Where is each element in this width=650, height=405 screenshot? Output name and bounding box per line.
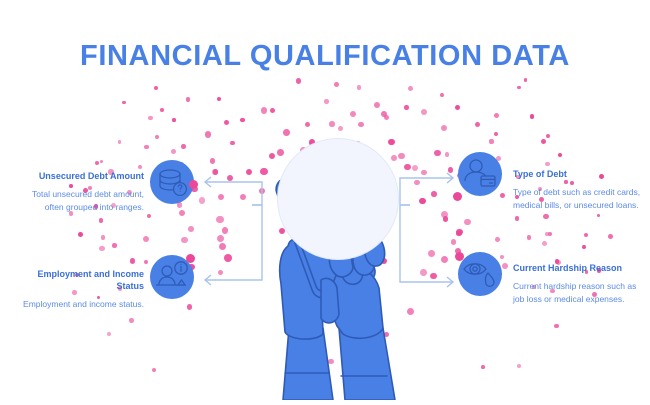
hands-phone-illustration [255,128,405,400]
accent-dot [152,368,156,372]
item-description: Type of debt such as credit cards, medic… [513,186,641,212]
accent-dot [358,122,363,127]
accent-dot [412,165,418,171]
accent-dot [441,125,447,131]
accent-dot [404,105,408,109]
accent-dot [350,111,356,117]
accent-dot [431,191,437,197]
accent-dot [384,115,389,120]
accent-dot [171,149,176,154]
accent-dot [122,101,126,105]
accent-dot [527,235,532,240]
accent-dot [455,252,464,261]
accent-dot [296,78,301,83]
accent-dot [101,235,105,239]
accent-dot [144,145,148,149]
accent-dot [144,260,149,265]
database-question-icon[interactable] [150,160,194,204]
accent-dot [186,254,195,263]
item-unsecured-debt-amount[interactable]: Unsecured Debt Amount Total unsecured de… [14,170,144,214]
accent-dot [224,254,232,262]
item-description: Total unsecured debt amount, often group… [14,188,144,214]
accent-dot [597,214,600,217]
accent-dot [548,232,553,237]
accent-dot [129,318,133,322]
accent-dot [524,78,528,82]
accent-dot [543,214,548,219]
accent-dot [227,175,233,181]
accent-dot [160,108,164,112]
accent-dot [481,365,485,369]
item-heading: Current Hardship Reason [513,262,641,274]
accent-dot [189,180,198,189]
accent-dot [118,140,122,144]
accent-dot [186,97,190,101]
accent-dot [218,270,223,275]
accent-dot [100,160,103,163]
accent-dot [441,211,448,218]
accent-dot [453,192,462,201]
accent-dot [515,216,519,220]
accent-dot [419,198,426,205]
infographic-canvas: FINANCIAL QUALIFICATION DATA [0,0,650,400]
accent-dot [404,164,411,171]
accent-dot [582,245,586,249]
accent-dot [541,139,546,144]
accent-dot [216,216,223,223]
accent-dot [456,231,461,236]
accent-dot [219,243,226,250]
accent-dot [329,121,334,126]
accent-dot [179,210,185,216]
accent-dot [107,332,111,336]
accent-dot [530,114,534,118]
accent-dot [445,152,450,157]
item-type-of-debt[interactable]: Type of Debt Type of debt such as credit… [513,168,641,212]
accent-dot [489,139,493,143]
accent-dot [224,120,229,125]
accent-dot [357,85,362,90]
accent-dot [188,226,194,232]
item-employment-income-status[interactable]: Employment and Income Status Employment … [14,268,144,311]
item-heading: Unsecured Debt Amount [14,170,144,182]
accent-dot [608,234,613,239]
accent-dot [218,194,224,200]
accent-dot [441,256,448,263]
accent-dot [334,82,339,87]
person-credit-card-icon[interactable] [458,152,502,196]
accent-dot [455,105,460,110]
accent-dot [443,216,448,221]
accent-dot [181,144,185,148]
accent-dot [408,86,413,91]
accent-dot [495,237,500,242]
accent-dot [143,236,149,242]
accent-dot [217,235,224,242]
accent-dot [230,141,235,146]
item-description: Current hardship reason such as job loss… [513,280,641,306]
accent-dot [517,86,521,90]
accent-dot [542,241,547,246]
accent-dot [95,161,99,165]
accent-dot [305,122,310,127]
accent-dot [517,364,521,368]
accent-dot [554,324,559,329]
accent-dot [155,135,160,140]
accent-dot [420,269,427,276]
halo-circle [277,138,399,260]
accent-dot [421,170,426,175]
accent-dot [545,232,549,236]
accent-dot [187,304,192,309]
accent-dot [212,169,217,174]
accent-dot [246,169,252,175]
accent-dot [456,229,463,236]
accent-dot [217,97,221,101]
accent-dot [428,250,435,257]
accent-dot [147,214,151,218]
accent-dot [421,109,427,115]
item-heading: Employment and Income Status [14,268,144,292]
accent-dot [475,122,480,127]
item-current-hardship-reason[interactable]: Current Hardship Reason Current hardship… [513,262,641,306]
accent-dot [205,131,212,138]
item-heading: Type of Debt [513,168,641,180]
accent-dot [172,118,175,121]
accent-dot [430,273,437,280]
accent-dot [494,132,498,136]
item-description: Employment and income status. [14,298,144,311]
accent-dot [148,116,153,121]
accent-dot [494,113,499,118]
accent-dot [546,134,550,138]
accent-dot [407,308,414,315]
accent-dot [451,239,456,244]
accent-dot [270,108,276,114]
accent-dot [558,153,562,157]
accent-dot [324,99,328,103]
accent-dot [199,197,206,204]
accent-dot [112,243,116,247]
accent-dot [99,218,104,223]
accent-dot [78,232,83,237]
accent-dot [374,102,380,108]
accent-dot [381,111,387,117]
accent-dot [222,227,229,234]
accent-dot [448,167,454,173]
accent-dot [99,246,104,251]
accent-dot [240,194,246,200]
page-title: FINANCIAL QUALIFICATION DATA [0,40,650,73]
accent-dot [138,165,142,169]
accent-dot [464,219,471,226]
accent-dot [545,162,549,166]
accent-dot [414,180,420,186]
accent-dot [210,158,216,164]
eye-teardrop-icon[interactable] [458,252,502,296]
accent-dot [261,107,267,113]
accent-dot [584,233,588,237]
accent-dot [240,118,245,123]
accent-dot [502,263,508,269]
accent-dot [130,258,136,264]
accent-dot [181,237,188,244]
accent-dot [434,150,440,156]
accent-dot [440,93,445,98]
accent-dot [213,169,219,175]
accent-dot [154,86,158,90]
